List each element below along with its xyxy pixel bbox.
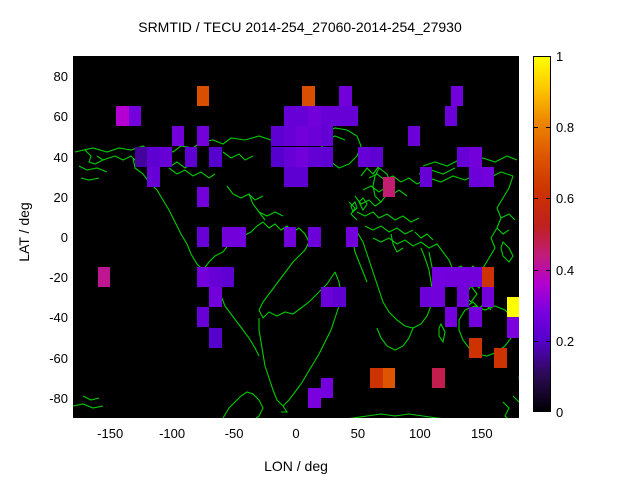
- y-axis-tick: -60: [28, 352, 68, 365]
- heatmap-cell: [482, 287, 494, 307]
- y-axis-tick: 40: [28, 151, 68, 164]
- heatmap-cell: [432, 267, 444, 287]
- heatmap-cell: [271, 126, 283, 146]
- colorbar-tick: 0: [556, 406, 596, 419]
- heatmap-cell: [321, 106, 333, 126]
- heatmap-cell: [445, 106, 457, 126]
- colorbar-tickmark: [546, 411, 551, 412]
- colorbar-tickmark: [533, 198, 538, 199]
- y-axis-tick: 60: [28, 110, 68, 123]
- heatmap-cell: [296, 126, 308, 146]
- heatmap-cell: [284, 227, 296, 247]
- heatmap-cell: [333, 106, 345, 126]
- heatmap-cell: [284, 167, 296, 187]
- y-axis-tick: 20: [28, 191, 68, 204]
- heatmap-cell: [209, 287, 221, 307]
- heatmap-cell: [469, 147, 481, 167]
- colorbar-tickmark: [546, 270, 551, 271]
- heatmap-cell: [172, 126, 184, 146]
- heatmap-cell: [321, 287, 333, 307]
- heatmap-cell: [222, 267, 234, 287]
- heatmap-cell: [129, 106, 141, 126]
- heatmap-cell: [457, 147, 469, 167]
- y-axis-label: LAT / deg: [16, 162, 32, 302]
- colorbar-tickmark: [533, 411, 538, 412]
- heatmap-cell: [321, 147, 333, 167]
- x-axis-tick: 50: [328, 427, 388, 440]
- heatmap-cell: [271, 147, 283, 167]
- colorbar-tickmark: [546, 56, 551, 57]
- heatmap-cell: [494, 348, 506, 368]
- colorbar-tickmark: [533, 270, 538, 271]
- y-axis-tick: -40: [28, 311, 68, 324]
- colorbar-tick: 0.2: [556, 335, 596, 348]
- heatmap-cell: [420, 287, 432, 307]
- heatmap-cell: [445, 267, 457, 287]
- heatmap-cell: [296, 106, 308, 126]
- heatmap-cell: [222, 227, 234, 247]
- heatmap-cell: [308, 147, 320, 167]
- heatmap-cell: [408, 126, 420, 146]
- colorbar-tickmark: [546, 198, 551, 199]
- heatmap-cell: [147, 167, 159, 187]
- x-axis-tick: 0: [266, 427, 326, 440]
- heatmap-cell: [135, 147, 147, 167]
- heatmap-cell: [284, 106, 296, 126]
- heatmap-cell: [432, 287, 444, 307]
- x-axis-tick: -150: [80, 427, 140, 440]
- heatmap-cell: [370, 368, 382, 388]
- colorbar-tickmark: [533, 127, 538, 128]
- heatmap-cell: [308, 106, 320, 126]
- x-axis-label: LON / deg: [73, 458, 519, 474]
- heatmap-cell: [507, 317, 519, 337]
- heatmap-cell: [445, 307, 457, 327]
- heatmap-cell: [457, 287, 469, 307]
- colorbar-tick: 0.8: [556, 121, 596, 134]
- figure-root: SRMTID / TECU 2014-254_27060-2014-254_27…: [0, 0, 640, 480]
- heatmap-cell: [469, 307, 481, 327]
- heatmap-cell: [358, 147, 370, 167]
- colorbar-tickmark: [546, 127, 551, 128]
- heatmap-cell: [383, 368, 395, 388]
- colorbar-tickmark: [546, 341, 551, 342]
- heatmap-cell: [482, 267, 494, 287]
- heatmap-cell: [321, 378, 333, 398]
- heatmap-cell: [370, 147, 382, 167]
- page-title: SRMTID / TECU 2014-254_27060-2014-254_27…: [0, 19, 600, 35]
- x-axis-tick: -50: [204, 427, 264, 440]
- heatmap-cell: [451, 86, 463, 106]
- colorbar-tickmarks: [533, 56, 551, 412]
- heatmap-cell: [469, 338, 481, 358]
- heatmap-cell: [197, 307, 209, 327]
- heatmap-cell: [160, 147, 172, 167]
- heatmap-cell: [333, 287, 345, 307]
- y-axis-tick: 80: [28, 70, 68, 83]
- heatmap-cell: [346, 106, 358, 126]
- y-axis-tick: -20: [28, 271, 68, 284]
- heatmap-cell: [197, 187, 209, 207]
- y-axis-tick: 0: [28, 231, 68, 244]
- heatmap-cell: [209, 328, 221, 348]
- heatmap-cells: [73, 56, 519, 418]
- heatmap-cell: [507, 297, 519, 317]
- heatmap-cell: [383, 177, 395, 197]
- heatmap-cell: [98, 267, 110, 287]
- x-axis-tick: 150: [452, 427, 512, 440]
- colorbar-tick: 1: [556, 50, 596, 63]
- x-axis-tick: 100: [390, 427, 450, 440]
- y-axis-tick: -80: [28, 392, 68, 405]
- heatmap-cell: [308, 126, 320, 146]
- heatmap-cell: [457, 267, 469, 287]
- heatmap-cell: [234, 227, 246, 247]
- heatmap-cell: [339, 86, 351, 106]
- heatmap-cell: [346, 227, 358, 247]
- heatmap-cell: [296, 147, 308, 167]
- heatmap-cell: [469, 267, 481, 287]
- heatmap-cell: [296, 167, 308, 187]
- heatmap-cell: [209, 147, 221, 167]
- colorbar-tick-labels: 10.80.60.40.20: [556, 0, 616, 480]
- colorbar-tickmark: [533, 56, 538, 57]
- heatmap-cell: [147, 147, 159, 167]
- colorbar-tick: 0.6: [556, 192, 596, 205]
- heatmap-cell: [321, 126, 333, 146]
- heatmap-cell: [302, 86, 314, 106]
- x-axis-tick: -100: [142, 427, 202, 440]
- heatmap-cell: [284, 126, 296, 146]
- x-axis-tick-labels: -150-100-50050100150: [0, 427, 640, 447]
- heatmap-cell: [197, 267, 209, 287]
- heatmap-cell: [482, 167, 494, 187]
- heatmap-cell: [420, 167, 432, 187]
- heatmap-cell: [432, 368, 444, 388]
- heatmap-plot-area[interactable]: [73, 56, 519, 418]
- heatmap-cell: [185, 147, 197, 167]
- heatmap-cell: [209, 267, 221, 287]
- heatmap-cell: [116, 106, 128, 126]
- heatmap-cell: [308, 227, 320, 247]
- heatmap-cell: [469, 167, 481, 187]
- heatmap-cell: [197, 126, 209, 146]
- colorbar-tick: 0.4: [556, 264, 596, 277]
- heatmap-cell: [284, 147, 296, 167]
- colorbar-tickmark: [533, 341, 538, 342]
- heatmap-cell: [197, 227, 209, 247]
- heatmap-cell: [308, 388, 320, 408]
- heatmap-cell: [197, 86, 209, 106]
